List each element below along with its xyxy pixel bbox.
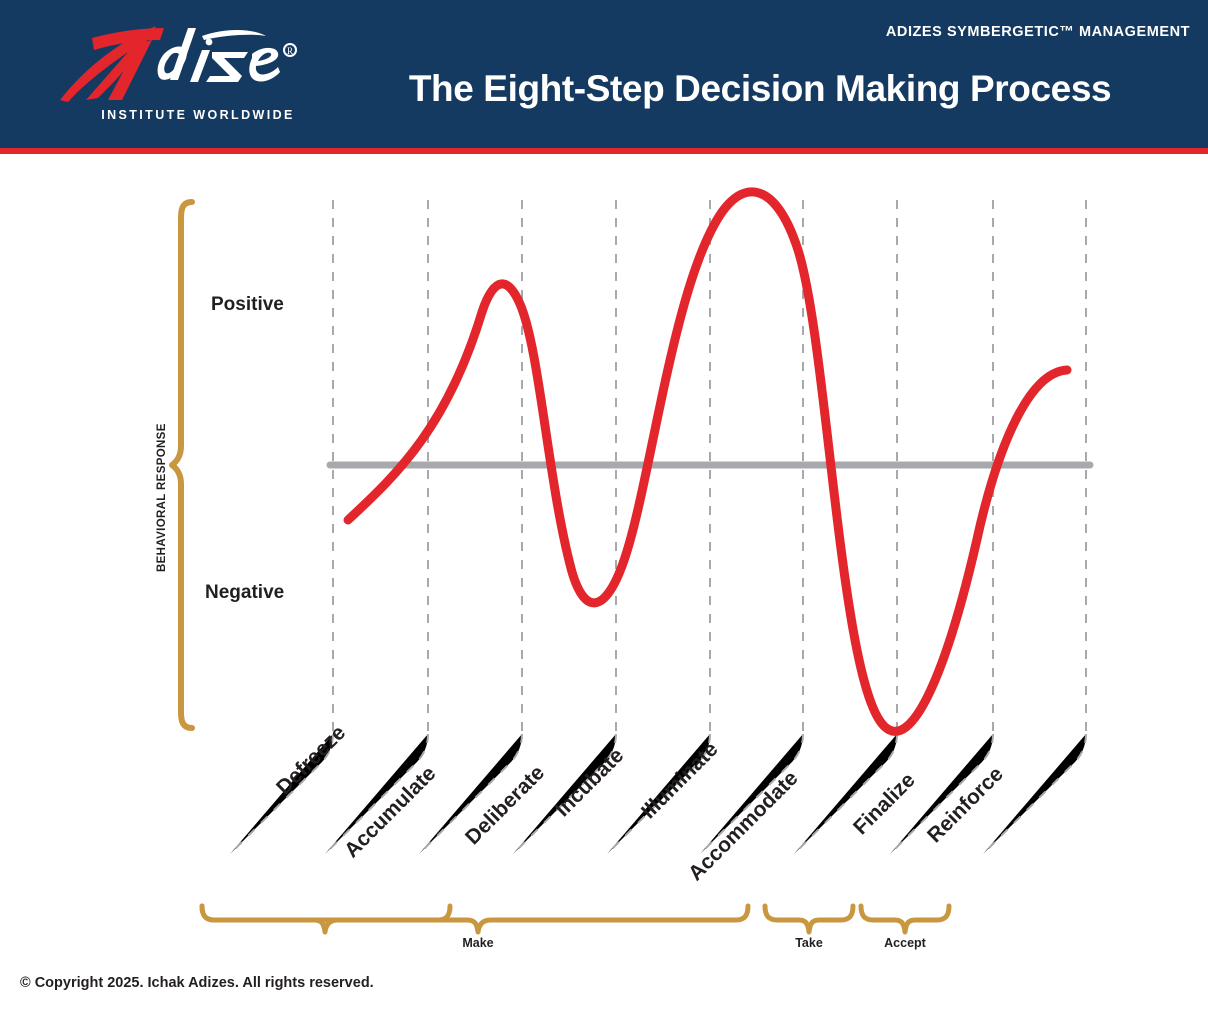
- decision-process-chart: BEHAVIORAL RESPONSE Positive Negative De…: [0, 154, 1208, 954]
- y-axis-brace: [172, 202, 192, 728]
- page-title: The Eight-Step Decision Making Process: [330, 68, 1190, 110]
- y-axis-title: BEHAVIORAL RESPONSE: [156, 423, 168, 572]
- adizes-logo-mark: R: [52, 20, 312, 106]
- svg-text:R: R: [287, 46, 293, 56]
- adizes-logo-subtitle: INSTITUTE WORLDWIDE: [90, 108, 306, 122]
- y-label-positive: Positive: [211, 294, 284, 316]
- adizes-logo: R INSTITUTE WORLDWIDE: [52, 20, 312, 130]
- header-eyebrow: ADIZES SYMBERGETIC™ MANAGEMENT: [886, 24, 1190, 40]
- header-bar: R INSTITUTE WORLDWIDE ADIZES SYMBERGETIC…: [0, 0, 1208, 148]
- copyright-notice: © Copyright 2025. Ichak Adizes. All righ…: [20, 975, 374, 991]
- y-label-negative: Negative: [205, 582, 284, 604]
- group-label-take: Take: [759, 936, 859, 950]
- group-label-make: Make: [428, 936, 528, 950]
- group-braces: [202, 906, 949, 932]
- group-label-accept: Accept: [855, 936, 955, 950]
- chart-canvas: [0, 154, 1208, 954]
- infographic-page: R INSTITUTE WORLDWIDE ADIZES SYMBERGETIC…: [0, 0, 1208, 1016]
